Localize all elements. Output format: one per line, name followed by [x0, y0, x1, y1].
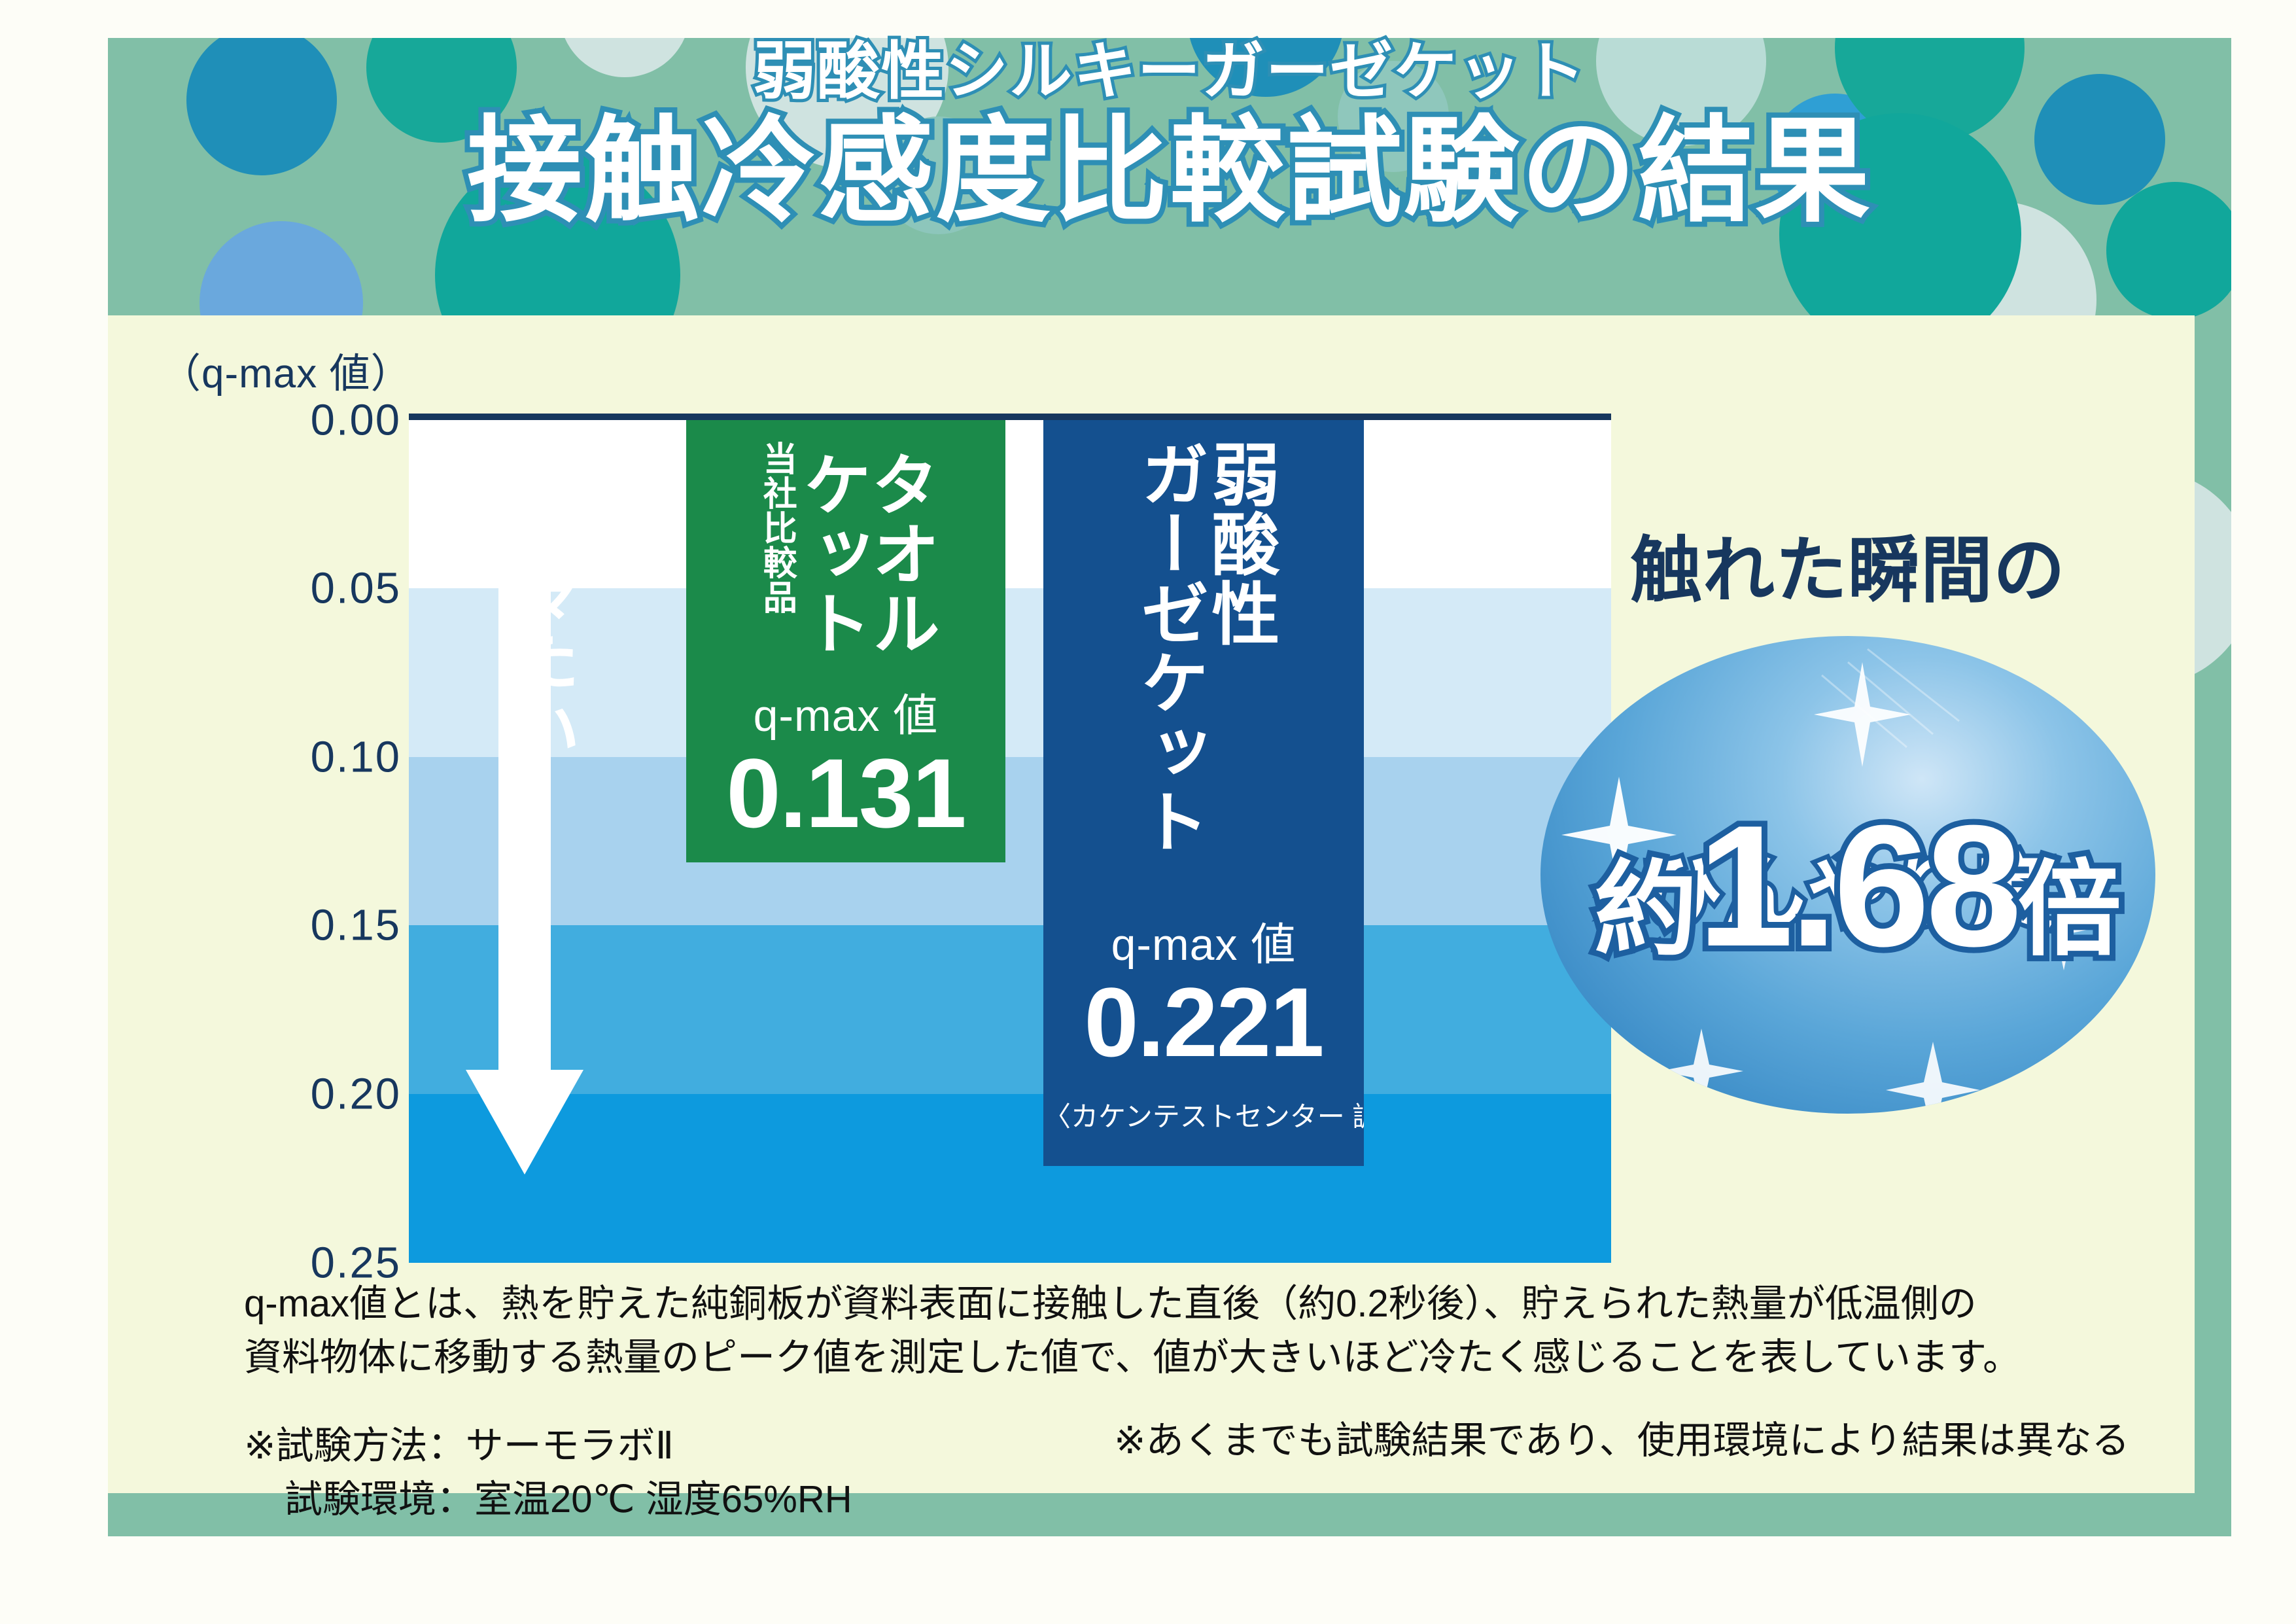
footnote-disclaimer: ※あくまでも試験結果であり、使用環境により結果は異なる [1114, 1409, 2130, 1464]
content-panel: （q-max 値） 0.00 0.05 0.10 0.15 0.20 0.25 … [108, 315, 2195, 1493]
poster-root: 弱酸性シルキーガーゼケット 接触冷感度比較試験の結果 （q-max 値） 0.0… [0, 0, 2296, 1624]
y-tick-label: 0.20 [126, 1069, 401, 1120]
cold-direction-arrow: 冷たい [462, 432, 587, 1237]
y-axis-title: （q-max 値） [160, 340, 411, 399]
footnote-description-line1: q-max値とは、熱を貯えた純銅板が資料表面に接触した直後（約0.2秒後）、貯え… [244, 1277, 2141, 1331]
y-tick-label: 0.05 [126, 563, 401, 614]
bar-gauze-blanket: ガーゼケット 弱酸性 q-max 値 0.221 〈カケンテストセンター 調べ〉 [1043, 420, 1364, 1166]
bar-towel-vertical-labels: 当社比較品 タオルケット [686, 420, 1005, 670]
bar-towel-qmax-value: 0.131 [686, 744, 1005, 842]
bar-gauze-qmax-value: 0.221 [1043, 973, 1364, 1071]
bar-gauze-sublabel: 弱酸性 [1205, 440, 1273, 648]
highlight-prefix: 約 [1594, 853, 1697, 968]
bar-chart: （q-max 値） 0.00 0.05 0.10 0.15 0.20 0.25 … [409, 414, 1611, 1256]
y-tick-label: 0.10 [126, 732, 401, 783]
subtitle: 弱酸性シルキーガーゼケット [108, 39, 2231, 105]
band-0.05-0.10 [409, 588, 1611, 757]
highlight-number: 1.68 [1697, 789, 2018, 982]
bar-gauze-qmax-label: q-max 値 [1043, 908, 1364, 973]
bar-gauze-label: ガーゼケット [1134, 440, 1202, 856]
bar-gauze-vertical-labels: ガーゼケット 弱酸性 [1043, 420, 1364, 898]
bar-towel-label: タオルケット [797, 437, 933, 670]
band-0.20-0.25 [409, 1094, 1611, 1263]
bar-towel-blanket: 当社比較品 タオルケット q-max 値 0.131 〈ボーケン品質評価機構 調… [686, 420, 1005, 862]
page-title: 接触冷感度比較試験の結果 [108, 109, 2231, 234]
bar-gauze-source: 〈カケンテストセンター 調べ〉 [1043, 1095, 1364, 1135]
bar-towel-source: 〈ボーケン品質評価機構 調べ〉 [686, 856, 1005, 862]
band-0.15-0.20 [409, 925, 1611, 1094]
y-tick-label: 0.15 [126, 900, 401, 951]
y-tick-label: 0.00 [126, 395, 401, 446]
bar-towel-qmax-label: q-max 値 [686, 679, 1005, 744]
highlight-callout: 触れた瞬間の ひんやり度 約1.68倍 [1554, 512, 2142, 1258]
footnotes: q-max値とは、熱を貯えた純銅板が資料表面に接触した直後（約0.2秒後）、貯え… [244, 1277, 2141, 1527]
zero-axis-line [409, 414, 1611, 420]
band-0.10-0.15 [409, 757, 1611, 925]
footnote-environment: 試験環境：室温20℃ 湿度65%RH [285, 1473, 2141, 1527]
band-0.00-0.05 [409, 420, 1611, 588]
header: 弱酸性シルキーガーゼケット 接触冷感度比較試験の結果 [108, 39, 2231, 314]
highlight-multiplier: 約1.68倍 [1527, 786, 2188, 985]
highlight-lead-text: 触れた瞬間の [1554, 512, 2142, 616]
footnote-description-line2: 資料物体に移動する熱量のピーク値を測定した値で、値が大きいほど冷たく感じることを… [244, 1331, 2141, 1385]
highlight-suffix: 倍 [2018, 853, 2121, 968]
cold-label: 冷たい [489, 550, 574, 768]
bar-towel-sublabel: 当社比較品 [759, 441, 795, 614]
